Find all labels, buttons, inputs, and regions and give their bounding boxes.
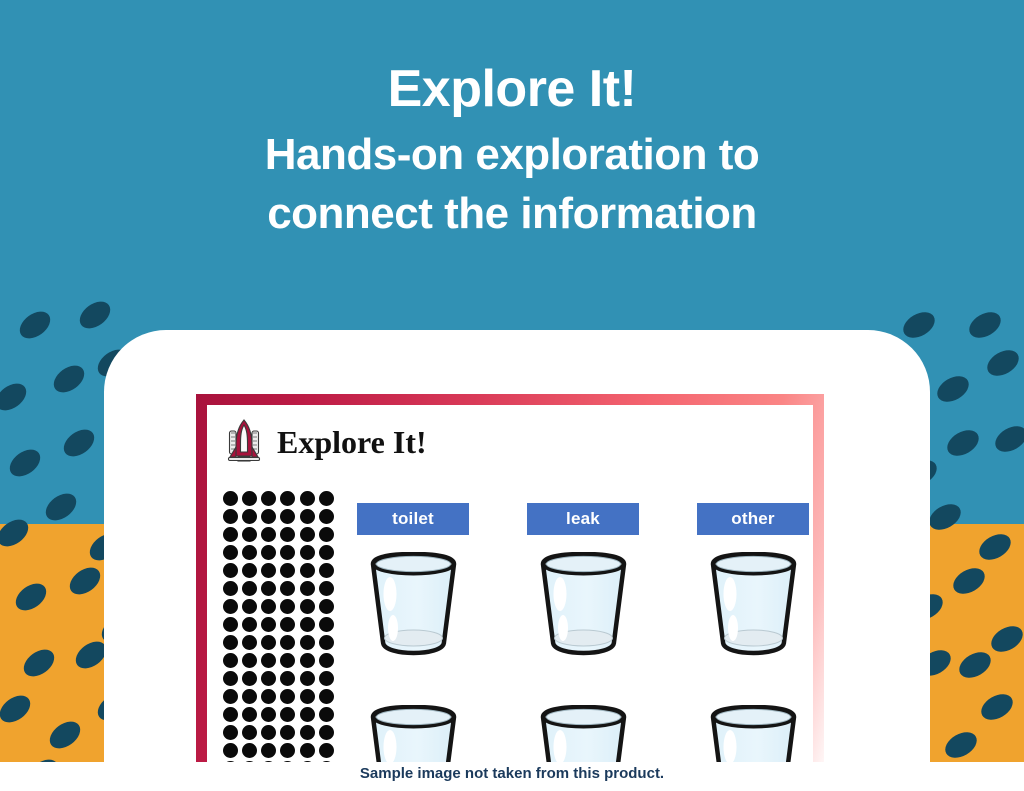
counting-dot <box>261 527 276 542</box>
counting-dot <box>223 599 238 614</box>
page-title: Explore It! <box>0 62 1024 117</box>
counting-dot <box>242 743 257 758</box>
counting-dot <box>223 491 238 506</box>
counting-dot <box>223 707 238 722</box>
counting-dot <box>280 653 295 668</box>
counting-dot <box>300 725 315 740</box>
category-label-leak[interactable]: leak <box>527 503 639 535</box>
category-label-other[interactable]: other <box>697 503 809 535</box>
counting-dot <box>319 707 334 722</box>
counting-dot <box>242 635 257 650</box>
counting-dot <box>261 563 276 578</box>
counting-dot <box>300 545 315 560</box>
counting-dot <box>261 743 276 758</box>
counting-dot <box>242 617 257 632</box>
counting-dot <box>242 599 257 614</box>
counting-dot <box>223 671 238 686</box>
counting-dot <box>300 689 315 704</box>
counting-dot <box>242 671 257 686</box>
counting-dot <box>242 491 257 506</box>
counting-dot <box>280 545 295 560</box>
worksheet-card: Explore It! toiletleakother <box>196 394 824 791</box>
counting-dot <box>223 617 238 632</box>
page-subtitle-line-1: Hands-on exploration to <box>265 130 760 179</box>
counting-dot-grid <box>223 491 335 780</box>
counting-dot <box>223 545 238 560</box>
counting-dot <box>300 743 315 758</box>
disclaimer-caption: Sample image not taken from this product… <box>0 765 1024 782</box>
counting-dot <box>261 725 276 740</box>
counting-dot <box>300 617 315 632</box>
worksheet-header: Explore It! <box>227 419 427 465</box>
counting-dot <box>280 491 295 506</box>
counting-dot <box>280 581 295 596</box>
counting-dot <box>280 635 295 650</box>
counting-dot <box>223 689 238 704</box>
counting-dot <box>242 689 257 704</box>
counting-dot <box>319 725 334 740</box>
counting-dot <box>319 491 334 506</box>
counting-dot <box>300 635 315 650</box>
counting-dot <box>242 653 257 668</box>
category-column: toilet <box>357 503 469 780</box>
counting-dot <box>319 563 334 578</box>
counting-dot <box>319 671 334 686</box>
counting-dot <box>261 599 276 614</box>
counting-dot <box>280 707 295 722</box>
worksheet-page: Explore It! toiletleakother <box>207 405 813 780</box>
counting-dot <box>242 509 257 524</box>
counting-dot <box>223 581 238 596</box>
counting-dot <box>280 617 295 632</box>
counting-dot <box>300 509 315 524</box>
slide-canvas: Explore It! Hands-on exploration to conn… <box>0 0 1024 791</box>
counting-dot <box>280 527 295 542</box>
counting-dot <box>280 689 295 704</box>
counting-dot <box>319 653 334 668</box>
water-cup <box>357 552 469 657</box>
counting-dot <box>319 545 334 560</box>
category-column: leak <box>527 503 639 780</box>
counting-dot <box>242 725 257 740</box>
counting-dot <box>319 509 334 524</box>
counting-dot <box>300 707 315 722</box>
counting-dot <box>242 527 257 542</box>
water-cup <box>527 552 639 657</box>
counting-dot <box>319 635 334 650</box>
counting-dot <box>261 491 276 506</box>
page-subtitle: Hands-on exploration to connect the info… <box>0 125 1024 244</box>
worksheet-title: Explore It! <box>277 424 427 461</box>
counting-dot <box>280 599 295 614</box>
counting-dot <box>280 743 295 758</box>
counting-dot <box>223 725 238 740</box>
counting-dot <box>223 563 238 578</box>
counting-dot <box>280 725 295 740</box>
counting-dot <box>261 707 276 722</box>
category-label-toilet[interactable]: toilet <box>357 503 469 535</box>
counting-dot <box>223 635 238 650</box>
counting-dot <box>300 653 315 668</box>
category-columns: toiletleakother <box>357 503 809 780</box>
counting-dot <box>319 527 334 542</box>
counting-dot <box>300 527 315 542</box>
counting-dot <box>300 491 315 506</box>
counting-dot <box>261 509 276 524</box>
water-cup <box>697 552 809 657</box>
counting-dot <box>300 671 315 686</box>
counting-dot <box>319 617 334 632</box>
counting-dot <box>300 563 315 578</box>
counting-dot <box>242 707 257 722</box>
counting-dot <box>242 581 257 596</box>
counting-dot <box>319 599 334 614</box>
counting-dot <box>223 743 238 758</box>
counting-dot <box>261 545 276 560</box>
category-column: other <box>697 503 809 780</box>
counting-dot <box>261 635 276 650</box>
counting-dot <box>261 671 276 686</box>
hero-heading-block: Explore It! Hands-on exploration to conn… <box>0 62 1024 243</box>
counting-dot <box>319 689 334 704</box>
counting-dot <box>261 617 276 632</box>
counting-dot <box>300 581 315 596</box>
counting-dot <box>261 689 276 704</box>
counting-dot <box>223 509 238 524</box>
counting-dot <box>223 527 238 542</box>
counting-dot <box>280 671 295 686</box>
page-subtitle-line-2: connect the information <box>267 189 757 238</box>
counting-dot <box>261 653 276 668</box>
counting-dot <box>300 599 315 614</box>
counting-dot <box>319 581 334 596</box>
space-shuttle-icon <box>227 419 261 465</box>
counting-dot <box>242 563 257 578</box>
counting-dot <box>319 743 334 758</box>
counting-dot <box>261 581 276 596</box>
counting-dot <box>242 545 257 560</box>
counting-dot <box>223 653 238 668</box>
counting-dot <box>280 509 295 524</box>
counting-dot <box>280 563 295 578</box>
